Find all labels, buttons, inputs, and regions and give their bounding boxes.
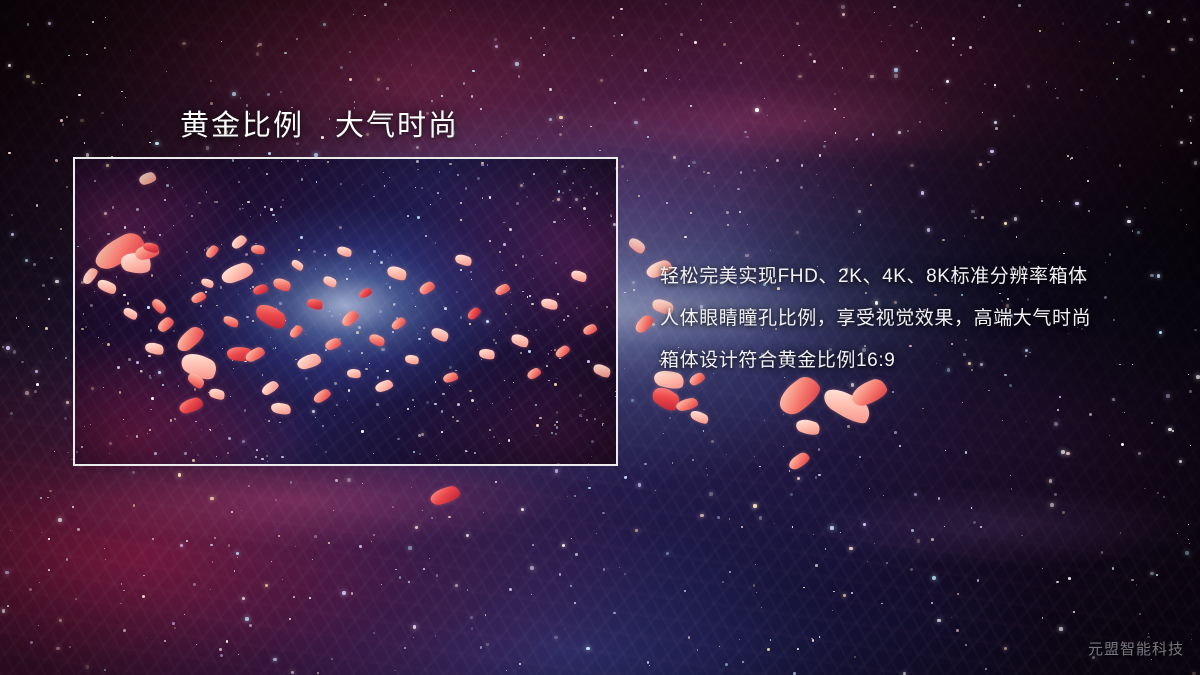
slide-title: 黄金比例 大气时尚 <box>180 102 459 144</box>
body-line-3: 箱体设计符合黄金比例16:9 <box>660 340 1160 382</box>
framed-image-panel <box>73 157 618 466</box>
petal <box>627 235 648 255</box>
watermark-label: 元盟智能科技 <box>1088 638 1184 659</box>
petal <box>794 417 821 438</box>
petal <box>786 450 811 471</box>
petal <box>429 484 462 507</box>
petal <box>632 313 655 335</box>
framed-image-vignette <box>75 159 616 464</box>
petal <box>689 408 710 426</box>
body-line-1: 轻松完美实现FHD、2K、4K、8K标准分辨率箱体 <box>660 256 1160 298</box>
slide-body-text: 轻松完美实现FHD、2K、4K、8K标准分辨率箱体 人体眼睛瞳孔比例，享受视觉效… <box>660 256 1160 382</box>
body-line-2: 人体眼睛瞳孔比例，享受视觉效果，高端大气时尚 <box>660 298 1160 340</box>
presentation-slide: 黄金比例 大气时尚 轻松完美实现FHD、2K、4K、8K标准分辨率箱体 人体眼睛… <box>0 0 1200 675</box>
